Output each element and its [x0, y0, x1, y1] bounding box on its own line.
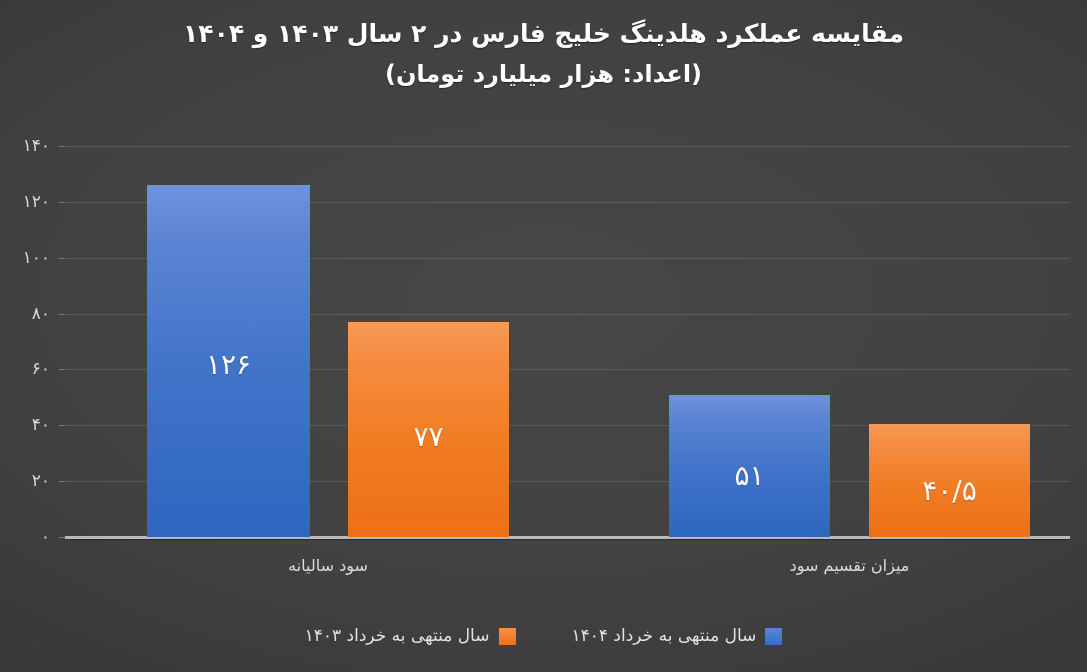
y-axis-tick [59, 425, 65, 426]
chart-title-line-1: مقایسه عملکرد هلدینگ خلیج فارس در ۲ سال … [0, 14, 1087, 54]
y-axis-tick-label: ۴۰ [32, 415, 50, 435]
legend-swatch-icon [499, 628, 516, 645]
y-axis-tick-label: ۱۲۰ [23, 192, 50, 212]
y-axis-tick [59, 481, 65, 482]
y-axis-tick [59, 537, 65, 538]
y-axis-tick [59, 258, 65, 259]
bar-value-label: ۴۰/۵ [869, 477, 1030, 505]
y-axis-tick-label: ۶۰ [32, 359, 50, 379]
x-axis-category-label: میزان تقسیم سود [790, 556, 910, 575]
x-axis-category-label: سود سالیانه [288, 556, 368, 575]
bar-blue-cat0[interactable]: ۱۲۶ [147, 185, 310, 537]
legend-label: سال منتهی به خرداد ۱۴۰۳ [305, 626, 490, 646]
bar-value-label: ۷۷ [348, 423, 509, 451]
chart-subtitle: (اعداد: هزار میلیارد تومان) [0, 54, 1087, 94]
chart-legend: سال منتهی به خرداد ۱۴۰۴سال منتهی به خردا… [0, 626, 1087, 646]
y-axis-tick [59, 202, 65, 203]
bar-value-label: ۱۲۶ [147, 351, 310, 379]
legend-label: سال منتهی به خرداد ۱۴۰۴ [572, 626, 757, 646]
legend-item-0[interactable]: سال منتهی به خرداد ۱۴۰۴ [572, 626, 783, 646]
legend-swatch-icon [765, 628, 782, 645]
gridline [65, 146, 1070, 147]
bar-value-label: ۵۱ [669, 462, 830, 490]
y-axis-tick-label: ۱۰۰ [23, 248, 50, 268]
bar-blue-cat1[interactable]: ۵۱ [669, 395, 830, 537]
y-axis-tick [59, 369, 65, 370]
y-axis-labels: ۱۴۰۱۲۰۱۰۰۸۰۶۰۴۰۲۰۰ [0, 146, 58, 537]
y-axis-tick-label: ۲۰ [32, 471, 50, 491]
y-axis-tick-label: ۱۴۰ [23, 136, 50, 156]
chart-title: مقایسه عملکرد هلدینگ خلیج فارس در ۲ سال … [0, 14, 1087, 94]
chart-container: مقایسه عملکرد هلدینگ خلیج فارس در ۲ سال … [0, 0, 1087, 672]
x-axis-category-labels: سود سالیانهمیزان تقسیم سود [65, 556, 1070, 584]
y-axis-tick [59, 146, 65, 147]
legend-item-1[interactable]: سال منتهی به خرداد ۱۴۰۳ [305, 626, 516, 646]
bar-orange-cat1[interactable]: ۴۰/۵ [869, 424, 1030, 537]
y-axis-tick [59, 314, 65, 315]
y-axis-tick-label: ۰ [41, 527, 50, 547]
y-axis-tick-label: ۸۰ [32, 304, 50, 324]
plot-area: ۱۲۶۷۷۵۱۴۰/۵ [65, 146, 1070, 537]
bar-orange-cat0[interactable]: ۷۷ [348, 322, 509, 537]
